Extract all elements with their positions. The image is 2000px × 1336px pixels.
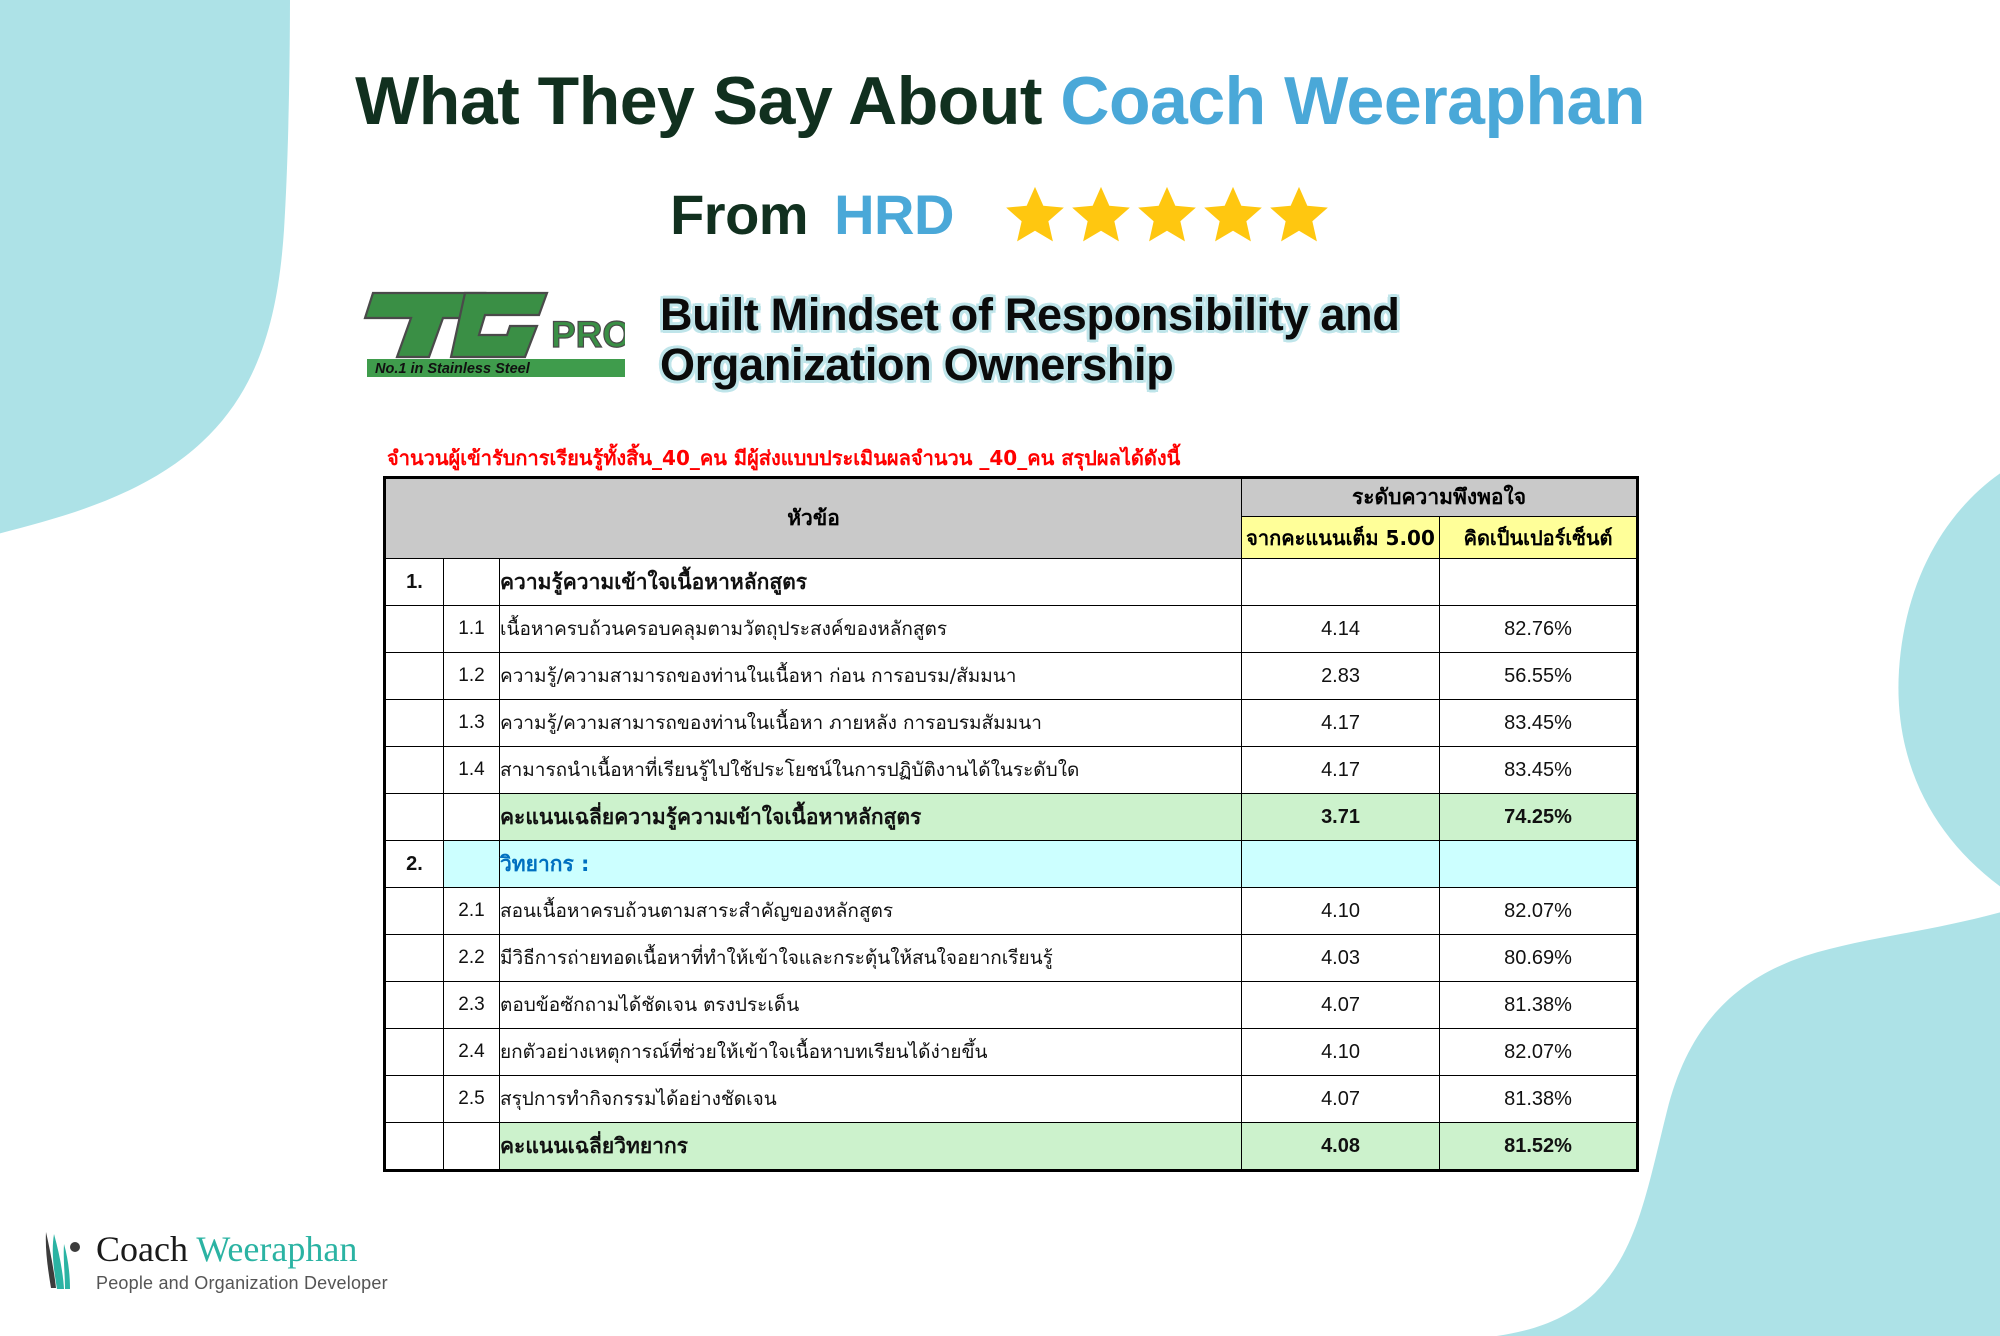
row-percent xyxy=(1440,559,1637,606)
col-header-percent: คิดเป็นเปอร์เซ็นต์ xyxy=(1440,517,1637,559)
course-title-line-2: Organization Ownership xyxy=(660,340,1400,390)
row-number xyxy=(386,1123,444,1170)
star-icon xyxy=(1268,185,1330,245)
row-subnumber: 2.4 xyxy=(444,1029,500,1076)
row-percent: 83.45% xyxy=(1440,747,1637,794)
row-number xyxy=(386,653,444,700)
row-number xyxy=(386,1076,444,1123)
table-row: 1.2ความรู้/ความสามารถของท่านในเนื้อหา ก่… xyxy=(386,653,1637,700)
row-number xyxy=(386,606,444,653)
subtitle-prefix: From xyxy=(670,182,808,247)
table-row: 2.3ตอบข้อซักถามได้ชัดเจน ตรงประเด็น4.078… xyxy=(386,982,1637,1029)
row-percent: 81.38% xyxy=(1440,1076,1637,1123)
row-label: ความรู้/ความสามารถของท่านในเนื้อหา ก่อน … xyxy=(500,653,1242,700)
leaf-figure-icon xyxy=(40,1228,86,1294)
row-subnumber: 2.3 xyxy=(444,982,500,1029)
col-header-topic: หัวข้อ xyxy=(386,479,1242,559)
row-score: 4.08 xyxy=(1242,1123,1440,1170)
tgpro-tagline: No.1 in Stainless Steel xyxy=(375,361,531,377)
row-label: วิทยากร : xyxy=(500,841,1242,888)
evaluation-table: หัวข้อ ระดับความพึงพอใจ จากคะแนนเต็ม 5.0… xyxy=(385,478,1637,1170)
table-row: 2.5สรุปการทำกิจกรรมได้อย่างชัดเจน4.0781.… xyxy=(386,1076,1637,1123)
row-score: 4.17 xyxy=(1242,747,1440,794)
row-percent: 74.25% xyxy=(1440,794,1637,841)
decorative-blob-right xyxy=(1795,470,2000,890)
coach-weeraphan-logo: Coach Weeraphan People and Organization … xyxy=(40,1228,388,1294)
row-label: มีวิธีการถ่ายทอดเนื้อหาที่ทำให้เข้าใจและ… xyxy=(500,935,1242,982)
row-label: ตอบข้อซักถามได้ชัดเจน ตรงประเด็น xyxy=(500,982,1242,1029)
row-label: คะแนนเฉลี่ยความรู้ความเข้าใจเนื้อหาหลักส… xyxy=(500,794,1242,841)
table-row: 2.4ยกตัวอย่างเหตุการณ์ที่ช่วยให้เข้าใจเน… xyxy=(386,1029,1637,1076)
svg-text:PRO: PRO xyxy=(551,314,625,355)
row-number xyxy=(386,982,444,1029)
row-percent: 56.55% xyxy=(1440,653,1637,700)
page-title-accent: Coach Weeraphan xyxy=(1060,63,1645,139)
row-subnumber: 2.2 xyxy=(444,935,500,982)
coach-logo-name: Coach Weeraphan xyxy=(96,1231,388,1267)
row-score: 4.10 xyxy=(1242,888,1440,935)
row-subnumber: 1.4 xyxy=(444,747,500,794)
row-score xyxy=(1242,841,1440,888)
star-icon xyxy=(1004,185,1066,245)
slide-canvas: What They Say About Coach Weeraphan From… xyxy=(0,0,2000,1336)
row-label: สามารถนำเนื้อหาที่เรียนรู้ไปใช้ประโยชน์ใ… xyxy=(500,747,1242,794)
table-row: 2.2มีวิธีการถ่ายทอดเนื้อหาที่ทำให้เข้าใจ… xyxy=(386,935,1637,982)
row-subnumber: 2.1 xyxy=(444,888,500,935)
row-number xyxy=(386,935,444,982)
course-title: Built Mindset of Responsibility and Orga… xyxy=(660,290,1400,391)
row-percent: 82.07% xyxy=(1440,1029,1637,1076)
tgpro-logo-mark: PRO No.1 in Stainless Steel xyxy=(355,285,625,377)
table-row: คะแนนเฉลี่ยวิทยากร4.0881.52% xyxy=(386,1123,1637,1170)
row-score: 4.14 xyxy=(1242,606,1440,653)
row-percent: 82.76% xyxy=(1440,606,1637,653)
table-row: คะแนนเฉลี่ยความรู้ความเข้าใจเนื้อหาหลักส… xyxy=(386,794,1637,841)
row-score: 4.07 xyxy=(1242,1076,1440,1123)
row-subnumber xyxy=(444,794,500,841)
col-header-satisfaction: ระดับความพึงพอใจ xyxy=(1242,479,1637,517)
row-label: เนื้อหาครบถ้วนครอบคลุมตามวัตถุประสงค์ของ… xyxy=(500,606,1242,653)
table-row: 2.1สอนเนื้อหาครบถ้วนตามสาระสำคัญของหลักส… xyxy=(386,888,1637,935)
table-row: 1.4สามารถนำเนื้อหาที่เรียนรู้ไปใช้ประโยช… xyxy=(386,747,1637,794)
row-subnumber xyxy=(444,1123,500,1170)
row-score: 2.83 xyxy=(1242,653,1440,700)
table-body: 1.ความรู้ความเข้าใจเนื้อหาหลักสูตร1.1เนื… xyxy=(386,559,1637,1170)
row-number xyxy=(386,794,444,841)
table-row: 1.ความรู้ความเข้าใจเนื้อหาหลักสูตร xyxy=(386,559,1637,606)
row-percent: 82.07% xyxy=(1440,888,1637,935)
star-icon xyxy=(1202,185,1264,245)
coach-logo-text: Coach Weeraphan People and Organization … xyxy=(96,1231,388,1292)
col-header-score: จากคะแนนเต็ม 5.00 xyxy=(1242,517,1440,559)
row-score: 4.17 xyxy=(1242,700,1440,747)
coach-logo-tagline: People and Organization Developer xyxy=(96,1274,388,1292)
row-label: ความรู้ความเข้าใจเนื้อหาหลักสูตร xyxy=(500,559,1242,606)
row-subnumber: 1.2 xyxy=(444,653,500,700)
row-percent: 81.52% xyxy=(1440,1123,1637,1170)
page-title: What They Say About Coach Weeraphan xyxy=(0,62,2000,140)
row-subnumber xyxy=(444,559,500,606)
row-subnumber xyxy=(444,841,500,888)
row-number: 1. xyxy=(386,559,444,606)
subtitle-accent: HRD xyxy=(834,182,954,247)
row-score xyxy=(1242,559,1440,606)
row-percent xyxy=(1440,841,1637,888)
row-number xyxy=(386,888,444,935)
row-score: 4.07 xyxy=(1242,982,1440,1029)
row-percent: 81.38% xyxy=(1440,982,1637,1029)
star-icon xyxy=(1136,185,1198,245)
table-row: 1.3ความรู้/ความสามารถของท่านในเนื้อหา ภา… xyxy=(386,700,1637,747)
coach-logo-name-part1: Coach xyxy=(96,1229,196,1269)
row-number xyxy=(386,700,444,747)
row-subnumber: 1.1 xyxy=(444,606,500,653)
participants-note: จำนวนผู้เข้ารับการเรียนรู้ทั้งสิ้น_40_คน… xyxy=(387,442,1180,474)
row-percent: 80.69% xyxy=(1440,935,1637,982)
row-percent: 83.45% xyxy=(1440,700,1637,747)
row-label: ความรู้/ความสามารถของท่านในเนื้อหา ภายหล… xyxy=(500,700,1242,747)
row-label: คะแนนเฉลี่ยวิทยากร xyxy=(500,1123,1242,1170)
row-score: 4.03 xyxy=(1242,935,1440,982)
row-score: 3.71 xyxy=(1242,794,1440,841)
row-number xyxy=(386,1029,444,1076)
row-subnumber: 1.3 xyxy=(444,700,500,747)
star-icon xyxy=(1070,185,1132,245)
row-score: 4.10 xyxy=(1242,1029,1440,1076)
rating-stars xyxy=(1004,185,1330,245)
table-row: 1.1เนื้อหาครบถ้วนครอบคลุมตามวัตถุประสงค์… xyxy=(386,606,1637,653)
row-label: ยกตัวอย่างเหตุการณ์ที่ช่วยให้เข้าใจเนื้อ… xyxy=(500,1029,1242,1076)
row-number: 2. xyxy=(386,841,444,888)
page-title-prefix: What They Say About xyxy=(355,63,1060,139)
coach-logo-name-part2: Weeraphan xyxy=(196,1229,357,1269)
row-number xyxy=(386,747,444,794)
evaluation-table-container: หัวข้อ ระดับความพึงพอใจ จากคะแนนเต็ม 5.0… xyxy=(385,478,1637,1170)
table-header: หัวข้อ ระดับความพึงพอใจ จากคะแนนเต็ม 5.0… xyxy=(386,479,1637,559)
table-row: 2.วิทยากร : xyxy=(386,841,1637,888)
tgpro-logo: PRO No.1 in Stainless Steel xyxy=(355,285,625,377)
course-title-line-1: Built Mindset of Responsibility and xyxy=(660,290,1400,340)
row-label: สรุปการทำกิจกรรมได้อย่างชัดเจน xyxy=(500,1076,1242,1123)
row-label: สอนเนื้อหาครบถ้วนตามสาระสำคัญของหลักสูตร xyxy=(500,888,1242,935)
subtitle-row: From HRD xyxy=(0,182,2000,247)
row-subnumber: 2.5 xyxy=(444,1076,500,1123)
